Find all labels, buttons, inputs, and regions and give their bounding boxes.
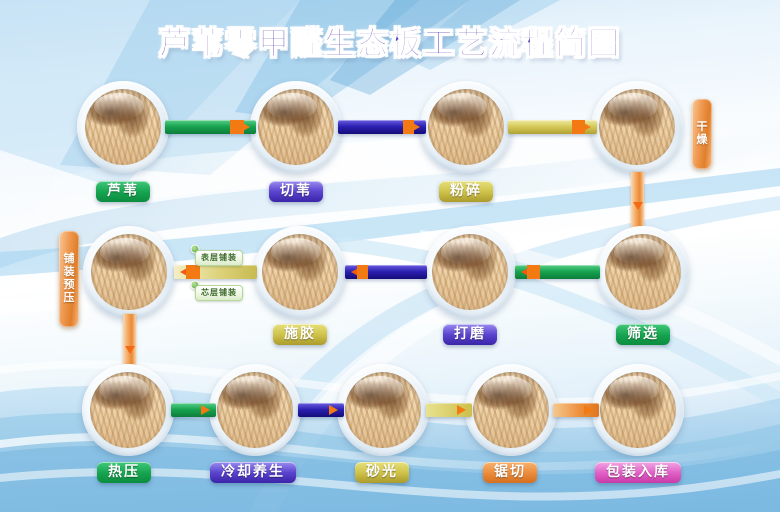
sub-label-surface-lay: 表层铺装 (195, 250, 243, 266)
node-gloss (482, 376, 532, 403)
node-gloss (271, 238, 321, 265)
flowchart-poster: 芦苇零甲醛生态板工艺流程简图 芦苇 切苇 粉碎 干燥 (0, 0, 780, 512)
arrow-right-icon (584, 405, 593, 415)
arrow-stem (186, 265, 200, 279)
process-node-preload[interactable] (83, 226, 175, 318)
arrow-down-icon (633, 202, 643, 210)
arrow-down-icon (125, 346, 135, 354)
label-cutting: 切苇 (269, 181, 323, 202)
connector-drying-to-screening (631, 172, 644, 232)
reed-photo (432, 234, 508, 310)
side-tag-drying: 干燥 (692, 99, 712, 169)
reed-photo (85, 89, 161, 165)
connector-hotpress-to-cooling (171, 403, 216, 417)
node-gloss (226, 376, 276, 403)
arrow-right-icon (201, 405, 210, 415)
reed-photo (262, 234, 338, 310)
process-node-sanding[interactable] (337, 364, 429, 456)
connector-grinding-to-gluing (345, 265, 427, 279)
node-gloss (100, 238, 150, 265)
process-node-crushing[interactable] (420, 81, 512, 173)
node-gloss (94, 93, 144, 120)
reed-photo (90, 372, 166, 448)
arrow-stem (357, 265, 368, 279)
node-gloss (354, 376, 404, 403)
arrow-stem (527, 265, 540, 279)
label-screening: 筛选 (616, 324, 670, 345)
process-node-screening[interactable] (597, 226, 689, 318)
label-packaging: 包装入库 (595, 462, 681, 483)
node-gloss (608, 93, 658, 120)
process-node-cutting[interactable] (250, 81, 342, 173)
reed-photo (605, 234, 681, 310)
reed-photo (258, 89, 334, 165)
reed-photo (428, 89, 504, 165)
connector-cutting-to-crushing (338, 120, 426, 134)
reed-photo (599, 89, 675, 165)
label-hotpress: 热压 (97, 462, 151, 483)
process-node-cooling[interactable] (209, 364, 301, 456)
label-crushing: 粉碎 (439, 181, 493, 202)
node-gloss (437, 93, 487, 120)
reed-photo (600, 372, 676, 448)
node-gloss (99, 376, 149, 403)
process-node-drying[interactable] (591, 81, 683, 173)
node-gloss (609, 376, 659, 403)
connector-reed-to-cutting (165, 120, 256, 134)
arrow-stem (403, 120, 414, 134)
side-tag-char: 燥 (697, 134, 708, 147)
reed-photo (91, 234, 167, 310)
connector-gluing-to-preload (174, 265, 257, 279)
side-tag-char: 压 (64, 292, 75, 305)
reed-photo (473, 372, 549, 448)
reed-photo (345, 372, 421, 448)
process-node-hotpress[interactable] (82, 364, 174, 456)
connector-cooling-to-sanding (298, 403, 344, 417)
node-gloss (614, 238, 664, 265)
process-node-reed[interactable] (77, 81, 169, 173)
process-node-sawing[interactable] (465, 364, 557, 456)
connector-crushing-to-drying (508, 120, 597, 134)
connector-sanding-to-sawing (426, 403, 472, 417)
process-node-gluing[interactable] (254, 226, 346, 318)
process-node-grinding[interactable] (424, 226, 516, 318)
connector-screening-to-grinding (515, 265, 600, 279)
sub-label-core-lay: 芯层铺装 (195, 285, 243, 301)
label-grinding: 打磨 (443, 324, 497, 345)
label-gluing: 施胶 (273, 324, 327, 345)
connector-sawing-to-packaging (553, 403, 599, 417)
label-cooling: 冷却养生 (210, 462, 296, 483)
arrow-right-icon (457, 405, 466, 415)
arrow-stem (572, 120, 585, 134)
arrow-stem (230, 120, 244, 134)
label-reed: 芦苇 (96, 181, 150, 202)
side-tag-preload: 铺装预压 (59, 231, 79, 327)
label-sanding: 砂光 (355, 462, 409, 483)
label-sawing: 锯切 (483, 462, 537, 483)
arrow-right-icon (329, 405, 338, 415)
node-gloss (267, 93, 317, 120)
reed-photo (217, 372, 293, 448)
node-gloss (441, 238, 491, 265)
process-node-packaging[interactable] (592, 364, 684, 456)
page-title: 芦苇零甲醛生态板工艺流程简图 (0, 18, 780, 63)
